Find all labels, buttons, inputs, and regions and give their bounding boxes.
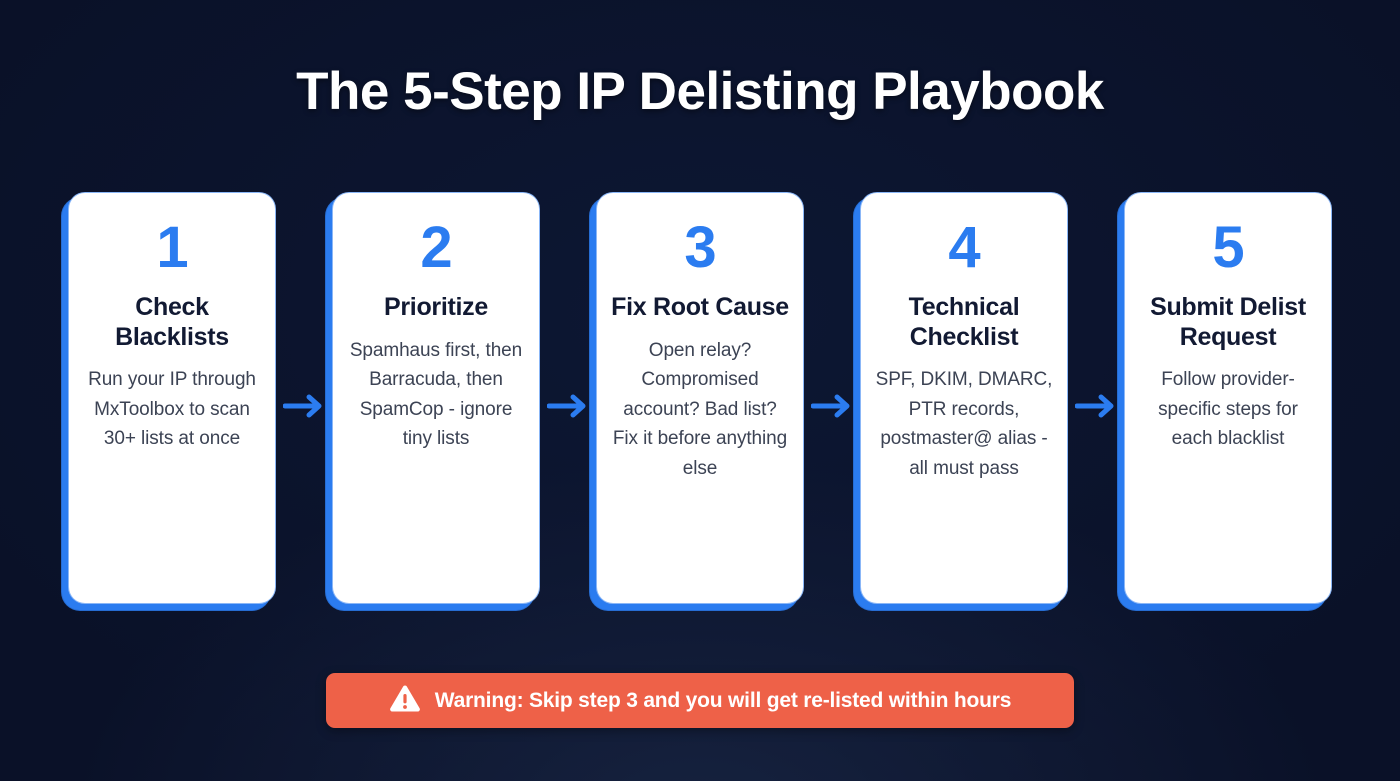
step-card-5-inner[interactable]: 5 Submit Delist Request Follow provider-… [1124,192,1332,604]
step-card-3[interactable]: 3 Fix Root Cause Open relay? Compromised… [596,192,804,604]
step-card-4-inner[interactable]: 4 Technical Checklist SPF, DKIM, DMARC, … [860,192,1068,604]
arrow-right-icon [811,393,853,419]
step-title-1: Check Blacklists [83,293,261,352]
step-description-4: SPF, DKIM, DMARC, PTR records, postmaste… [875,365,1053,484]
step-number-4: 4 [875,219,1053,277]
step-card-4[interactable]: 4 Technical Checklist SPF, DKIM, DMARC, … [860,192,1068,604]
warning-text: Warning: Skip step 3 and you will get re… [435,689,1011,713]
connector-arrow-4 [1074,192,1118,604]
step-number-3: 3 [611,219,789,277]
steps-row: 1 Check Blacklists Run your IP through M… [68,192,1332,612]
step-card-2-inner[interactable]: 2 Prioritize Spamhaus first, then Barrac… [332,192,540,604]
step-description-2: Spamhaus first, then Barracuda, then Spa… [347,336,525,455]
step-description-5: Follow provider-specific steps for each … [1139,365,1317,454]
page-title: The 5-Step IP Delisting Playbook [0,63,1400,121]
arrow-right-icon [1075,393,1117,419]
connector-arrow-1 [282,192,326,604]
step-number-1: 1 [83,219,261,277]
arrow-right-icon [547,393,589,419]
step-title-4: Technical Checklist [875,293,1053,352]
step-description-1: Run your IP through MxToolbox to scan 30… [83,365,261,454]
arrow-right-icon [283,393,325,419]
step-description-3: Open relay? Compromised account? Bad lis… [611,336,789,484]
step-number-2: 2 [347,219,525,277]
step-card-1-inner[interactable]: 1 Check Blacklists Run your IP through M… [68,192,276,604]
step-card-1[interactable]: 1 Check Blacklists Run your IP through M… [68,192,276,604]
step-title-2: Prioritize [347,293,525,323]
connector-arrow-3 [810,192,854,604]
warning-triangle-icon [389,684,421,718]
step-title-5: Submit Delist Request [1139,293,1317,352]
step-title-3: Fix Root Cause [611,293,789,323]
step-card-5[interactable]: 5 Submit Delist Request Follow provider-… [1124,192,1332,604]
warning-banner: Warning: Skip step 3 and you will get re… [326,673,1074,728]
step-card-2[interactable]: 2 Prioritize Spamhaus first, then Barrac… [332,192,540,604]
step-number-5: 5 [1139,219,1317,277]
connector-arrow-2 [546,192,590,604]
step-card-3-inner[interactable]: 3 Fix Root Cause Open relay? Compromised… [596,192,804,604]
